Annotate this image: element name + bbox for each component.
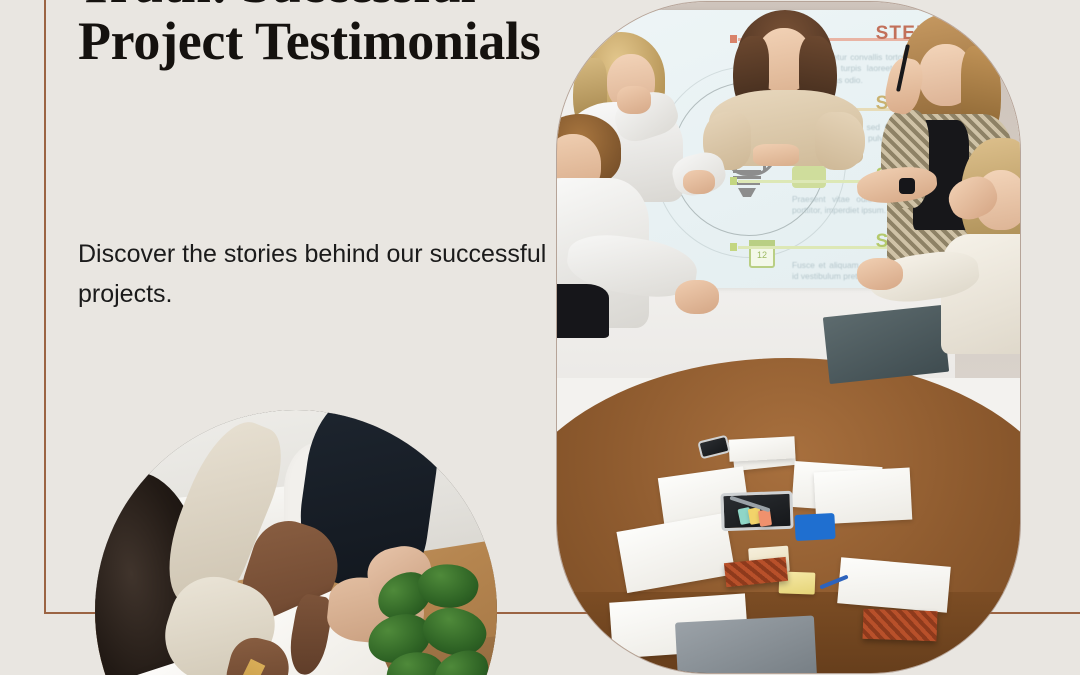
- slate-board-on-table: [822, 305, 949, 384]
- wrist-watch: [899, 178, 915, 194]
- circular-photo-team-writing: [95, 410, 497, 675]
- page-subtitle: Discover the stories behind our successf…: [78, 234, 558, 314]
- clipboard-papers: [728, 436, 795, 461]
- poster-canvas: Truth: Successful Project Testimonials D…: [0, 0, 1080, 675]
- page-title: Truth: Successful Project Testimonials: [78, 0, 548, 70]
- closed-laptop-front: [675, 616, 818, 673]
- vertical-accent-rule: [44, 0, 46, 614]
- paper-bottom-right-sheet: [837, 557, 951, 612]
- calendar-icon: [749, 240, 775, 268]
- arched-photo-meeting-room: STEP 1 Ut consectetur convallis tortor s…: [557, 2, 1020, 673]
- blue-stapler: [794, 513, 835, 541]
- potted-plant: [368, 571, 497, 675]
- circular-photo-scene: [95, 410, 497, 675]
- textured-book-right: [862, 609, 937, 642]
- sticky-flag-orange: [758, 509, 772, 527]
